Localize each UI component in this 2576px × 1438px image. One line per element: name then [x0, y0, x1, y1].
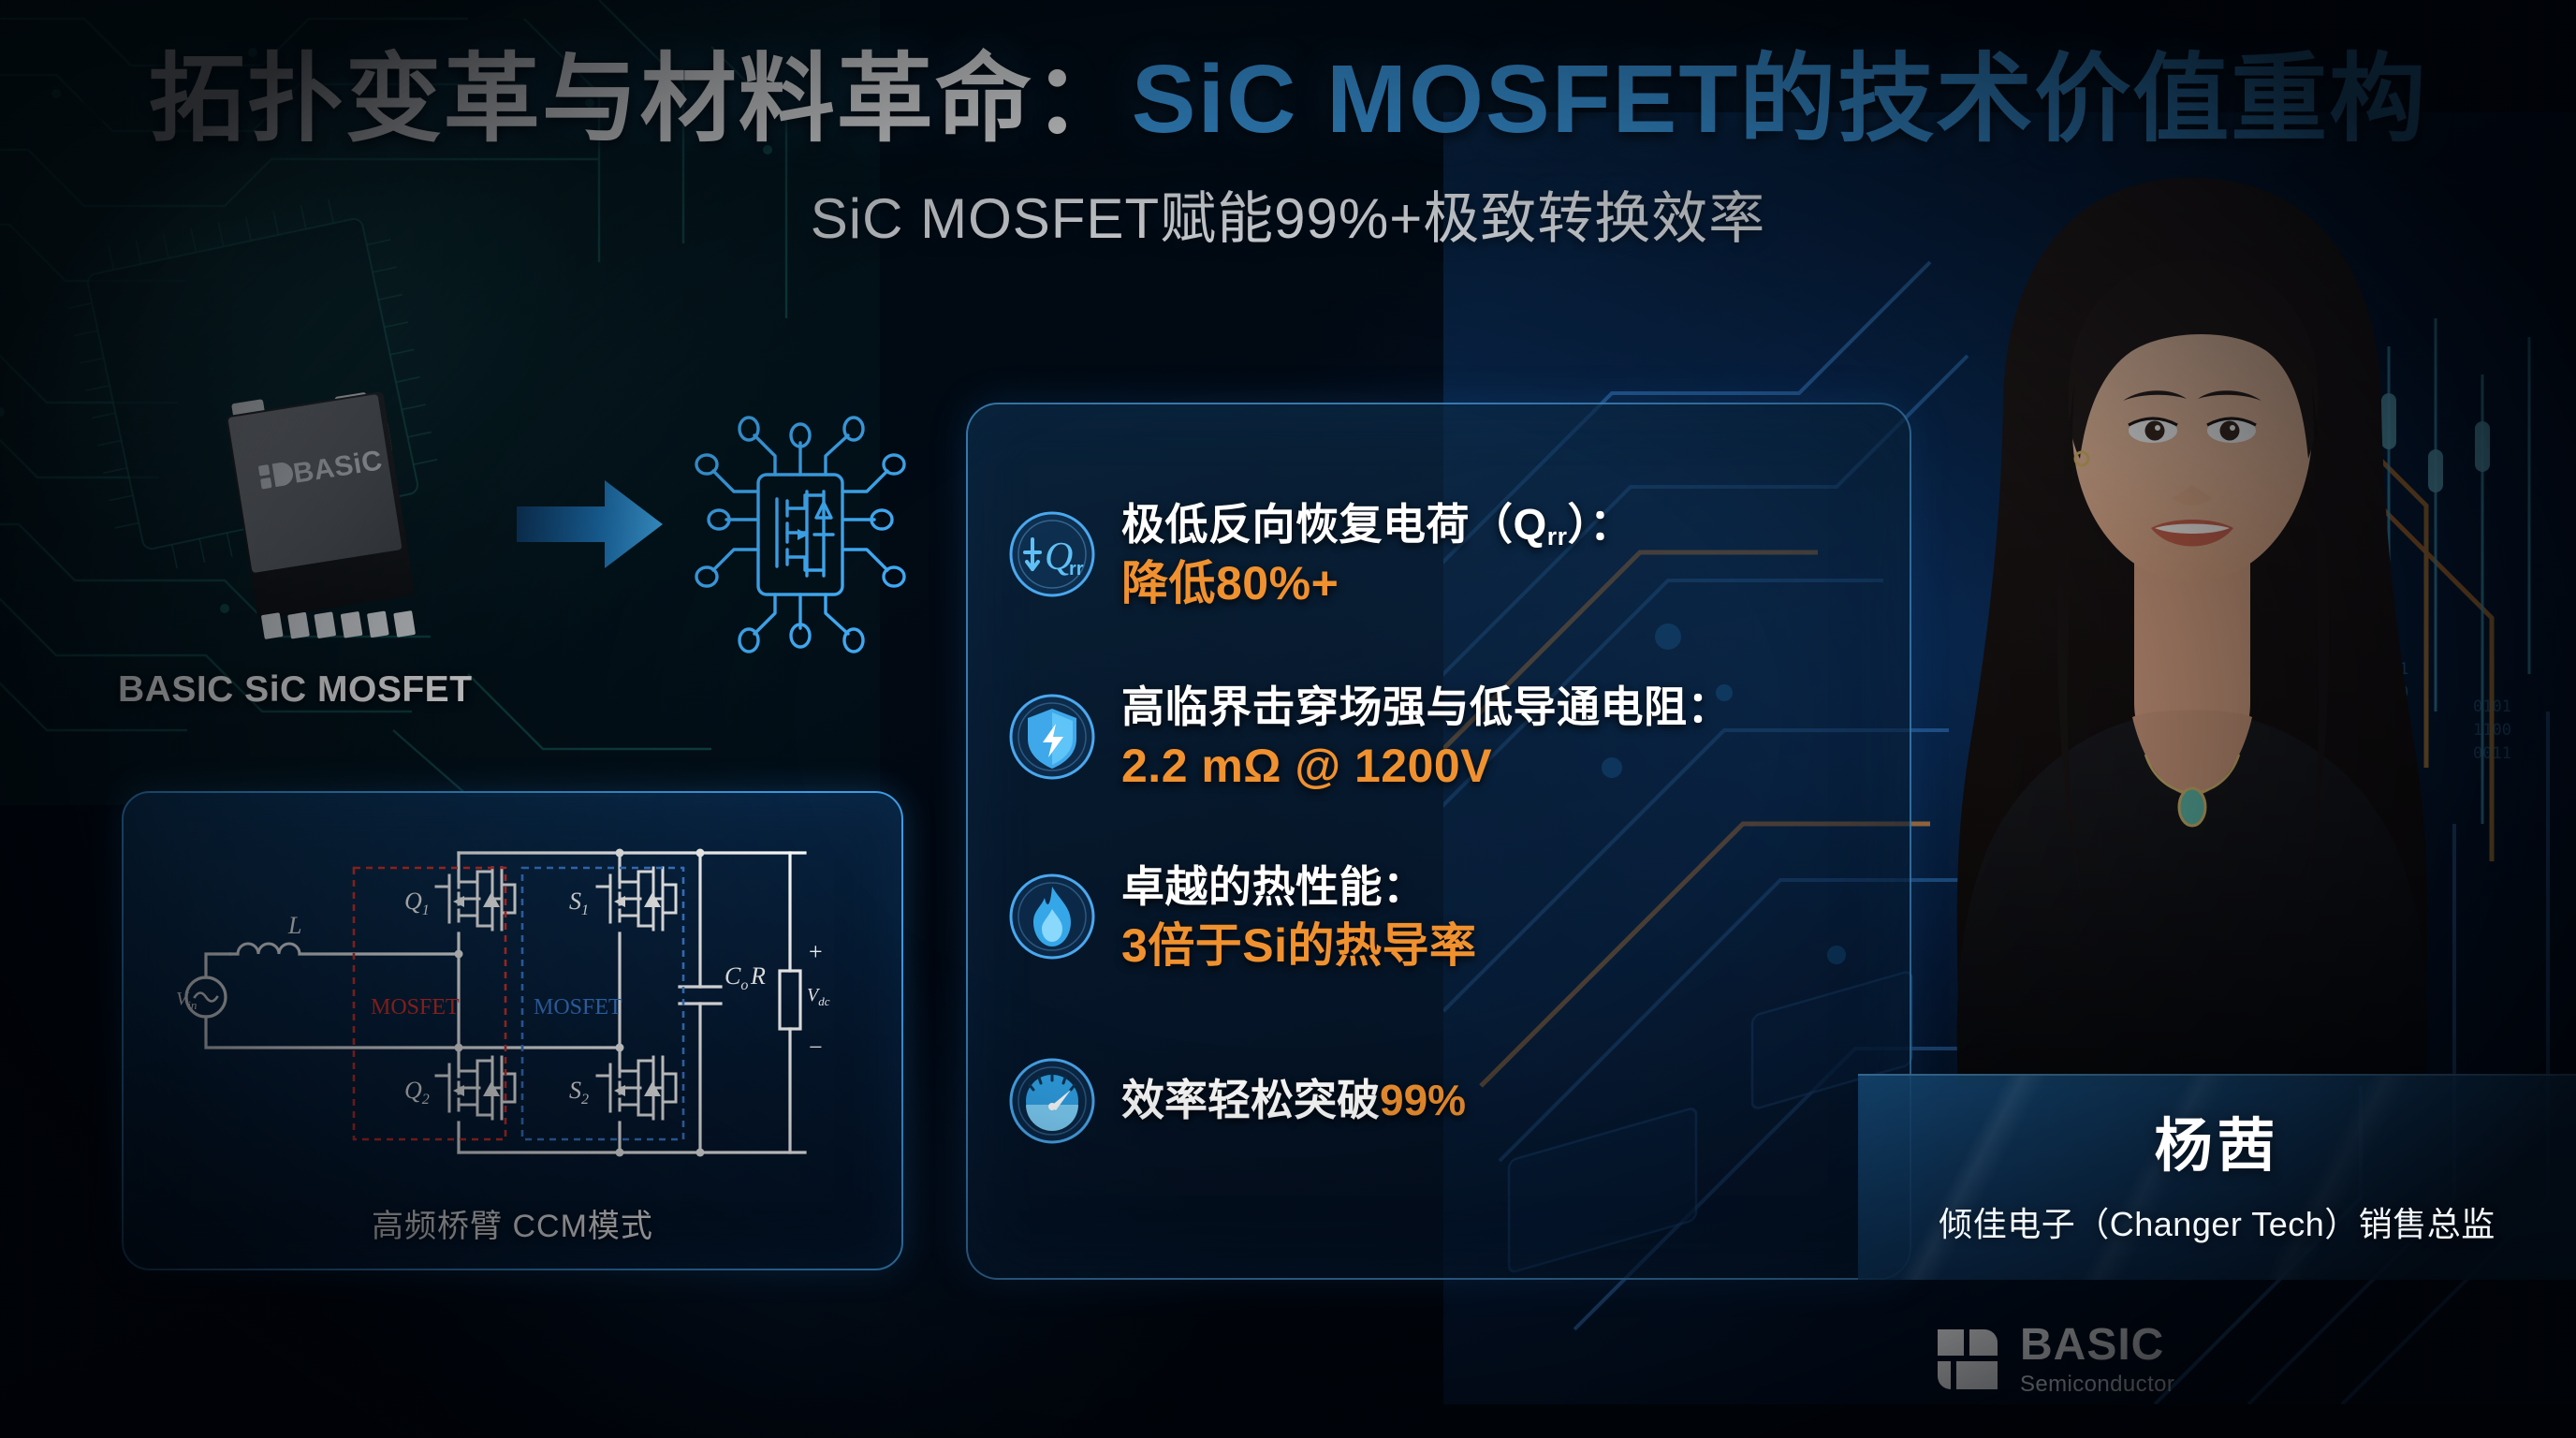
svg-text:Vdc: Vdc: [807, 985, 830, 1008]
feature-text: 卓越的热性能： 3倍于Si的热导率: [1101, 858, 1477, 976]
brand-logo: BASIC Semiconductor: [1936, 1323, 2174, 1396]
ccm-bridge-circuit-icon: Vin L Q1 Q2 S1 S2 Co R Vdc + − MOSFET MO…: [150, 814, 880, 1186]
feature-value: 99%: [1380, 1076, 1466, 1124]
mosfet-chip-icon: [665, 398, 936, 669]
feature-value: 2.2 mΩ @ 1200V: [1121, 737, 1731, 796]
basic-semiconductor-logo-icon: [1936, 1328, 1999, 1391]
feature-heading: 极低反向恢复电荷（Qrr）：: [1121, 498, 1633, 550]
feature-heading-tail: ）：: [1568, 500, 1633, 549]
flame-icon: [1003, 868, 1101, 965]
page-title: 拓扑变革与材料革命：SiC MOSFET的技术价值重构: [0, 45, 2576, 153]
speaker-name: 杨茜: [1858, 1098, 2576, 1182]
title-part-white: 拓扑变革与材料革命：: [149, 45, 1132, 153]
title-part-blue: SiC MOSFET的技术价值重构: [1132, 45, 2427, 153]
brand-name: BASIC: [2020, 1323, 2174, 1368]
svg-text:MOSFET: MOSFET: [534, 995, 622, 1020]
speaker-title: 倾佳电子（Changer Tech）销售总监: [1858, 1197, 2576, 1246]
feature-heading-main: 效率轻松突破: [1121, 1076, 1380, 1124]
svg-text:−: −: [809, 1034, 823, 1061]
svg-text:R: R: [750, 962, 766, 990]
feature-heading: 效率轻松突破99%: [1121, 1066, 1466, 1128]
feature-heading-main: 极低反向恢复电荷（Q: [1121, 500, 1547, 549]
feature-text: 高临界击穿场强与低导通电阻： 2.2 mΩ @ 1200V: [1101, 679, 1731, 796]
svg-text:Q2: Q2: [404, 1077, 430, 1108]
feature-value: 降低80%+: [1121, 554, 1633, 613]
feature-heading-sub: rr: [1547, 522, 1568, 550]
circuit-caption: 高频桥臂 CCM模式: [124, 1200, 901, 1246]
svg-text:MOSFET: MOSFET: [371, 995, 460, 1020]
svg-text:+: +: [809, 938, 823, 965]
right-arrow-icon: [515, 473, 665, 576]
svg-text:Vin: Vin: [176, 989, 197, 1012]
svg-text:S1: S1: [569, 888, 589, 918]
speaker-nameplate: 杨茜 倾佳电子（Changer Tech）销售总监: [1858, 1074, 2576, 1280]
brand-text: BASIC Semiconductor: [2020, 1323, 2174, 1396]
feature-heading: 高临界击穿场强与低导通电阻：: [1121, 681, 1731, 733]
feature-text: 效率轻松突破99%: [1101, 1064, 1466, 1128]
svg-text:S2: S2: [569, 1077, 589, 1108]
speaker-portrait-area: [1715, 150, 2576, 1086]
product-label: BASIC SiC MOSFET: [118, 669, 473, 711]
svg-text:L: L: [287, 912, 301, 939]
feature-heading: 卓越的热性能：: [1121, 860, 1477, 913]
qrr-icon: Q rr: [1003, 506, 1101, 603]
svg-text:Co: Co: [724, 962, 748, 993]
feature-text: 极低反向恢复电荷（Qrr）： 降低80%+: [1101, 496, 1633, 613]
svg-text:Q1: Q1: [404, 888, 430, 918]
circuit-diagram-card: Vin L Q1 Q2 S1 S2 Co R Vdc + − MOSFET MO…: [122, 791, 903, 1270]
feature-value: 3倍于Si的热导率: [1121, 917, 1477, 976]
product-showcase: BASiC: [112, 370, 936, 726]
brand-subtitle: Semiconductor: [2020, 1373, 2174, 1396]
gauge-icon: [1003, 1052, 1101, 1150]
shield-bolt-icon: [1003, 688, 1101, 785]
slide-root: 0110110010 0101111001 01011100 0011 拓扑变革…: [0, 0, 2576, 1438]
speaker-portrait: [1865, 150, 2520, 1086]
svg-text:rr: rr: [1069, 559, 1084, 580]
mosfet-package-icon: BASiC: [197, 379, 505, 660]
